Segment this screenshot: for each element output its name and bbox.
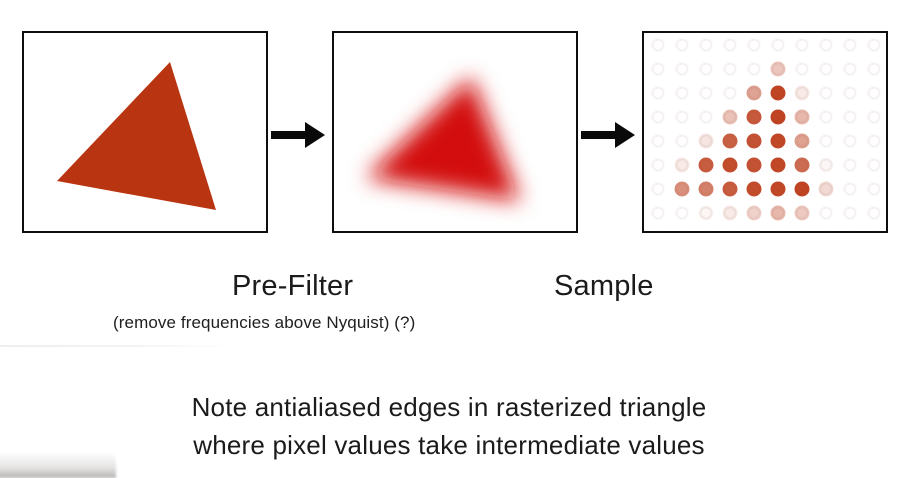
panel-sampled-grid (642, 31, 888, 233)
arrow-prefilter-icon (271, 118, 325, 152)
bottom-note-line-2: where pixel values take intermediate val… (0, 426, 898, 464)
slide-canvas: Pre-Filter (remove frequencies above Nyq… (0, 0, 898, 474)
corner-shadow-artifact (0, 452, 116, 478)
arrow-sample-icon (581, 118, 635, 152)
bottom-note: Note antialiased edges in rasterized tri… (0, 388, 898, 464)
original-triangle-graphic (24, 33, 266, 231)
faint-horizontal-rule (0, 345, 235, 347)
sampled-grid-graphic (644, 33, 886, 231)
panel-prefiltered-triangle (332, 31, 578, 233)
caption-sample: Sample (554, 270, 654, 303)
bottom-note-line-1: Note antialiased edges in rasterized tri… (0, 388, 898, 426)
prefiltered-triangle-graphic (334, 33, 576, 231)
caption-prefilter: Pre-Filter (232, 270, 353, 303)
caption-prefilter-subtitle: (remove frequencies above Nyquist) (?) (113, 313, 415, 333)
panel-original-triangle (22, 31, 268, 233)
